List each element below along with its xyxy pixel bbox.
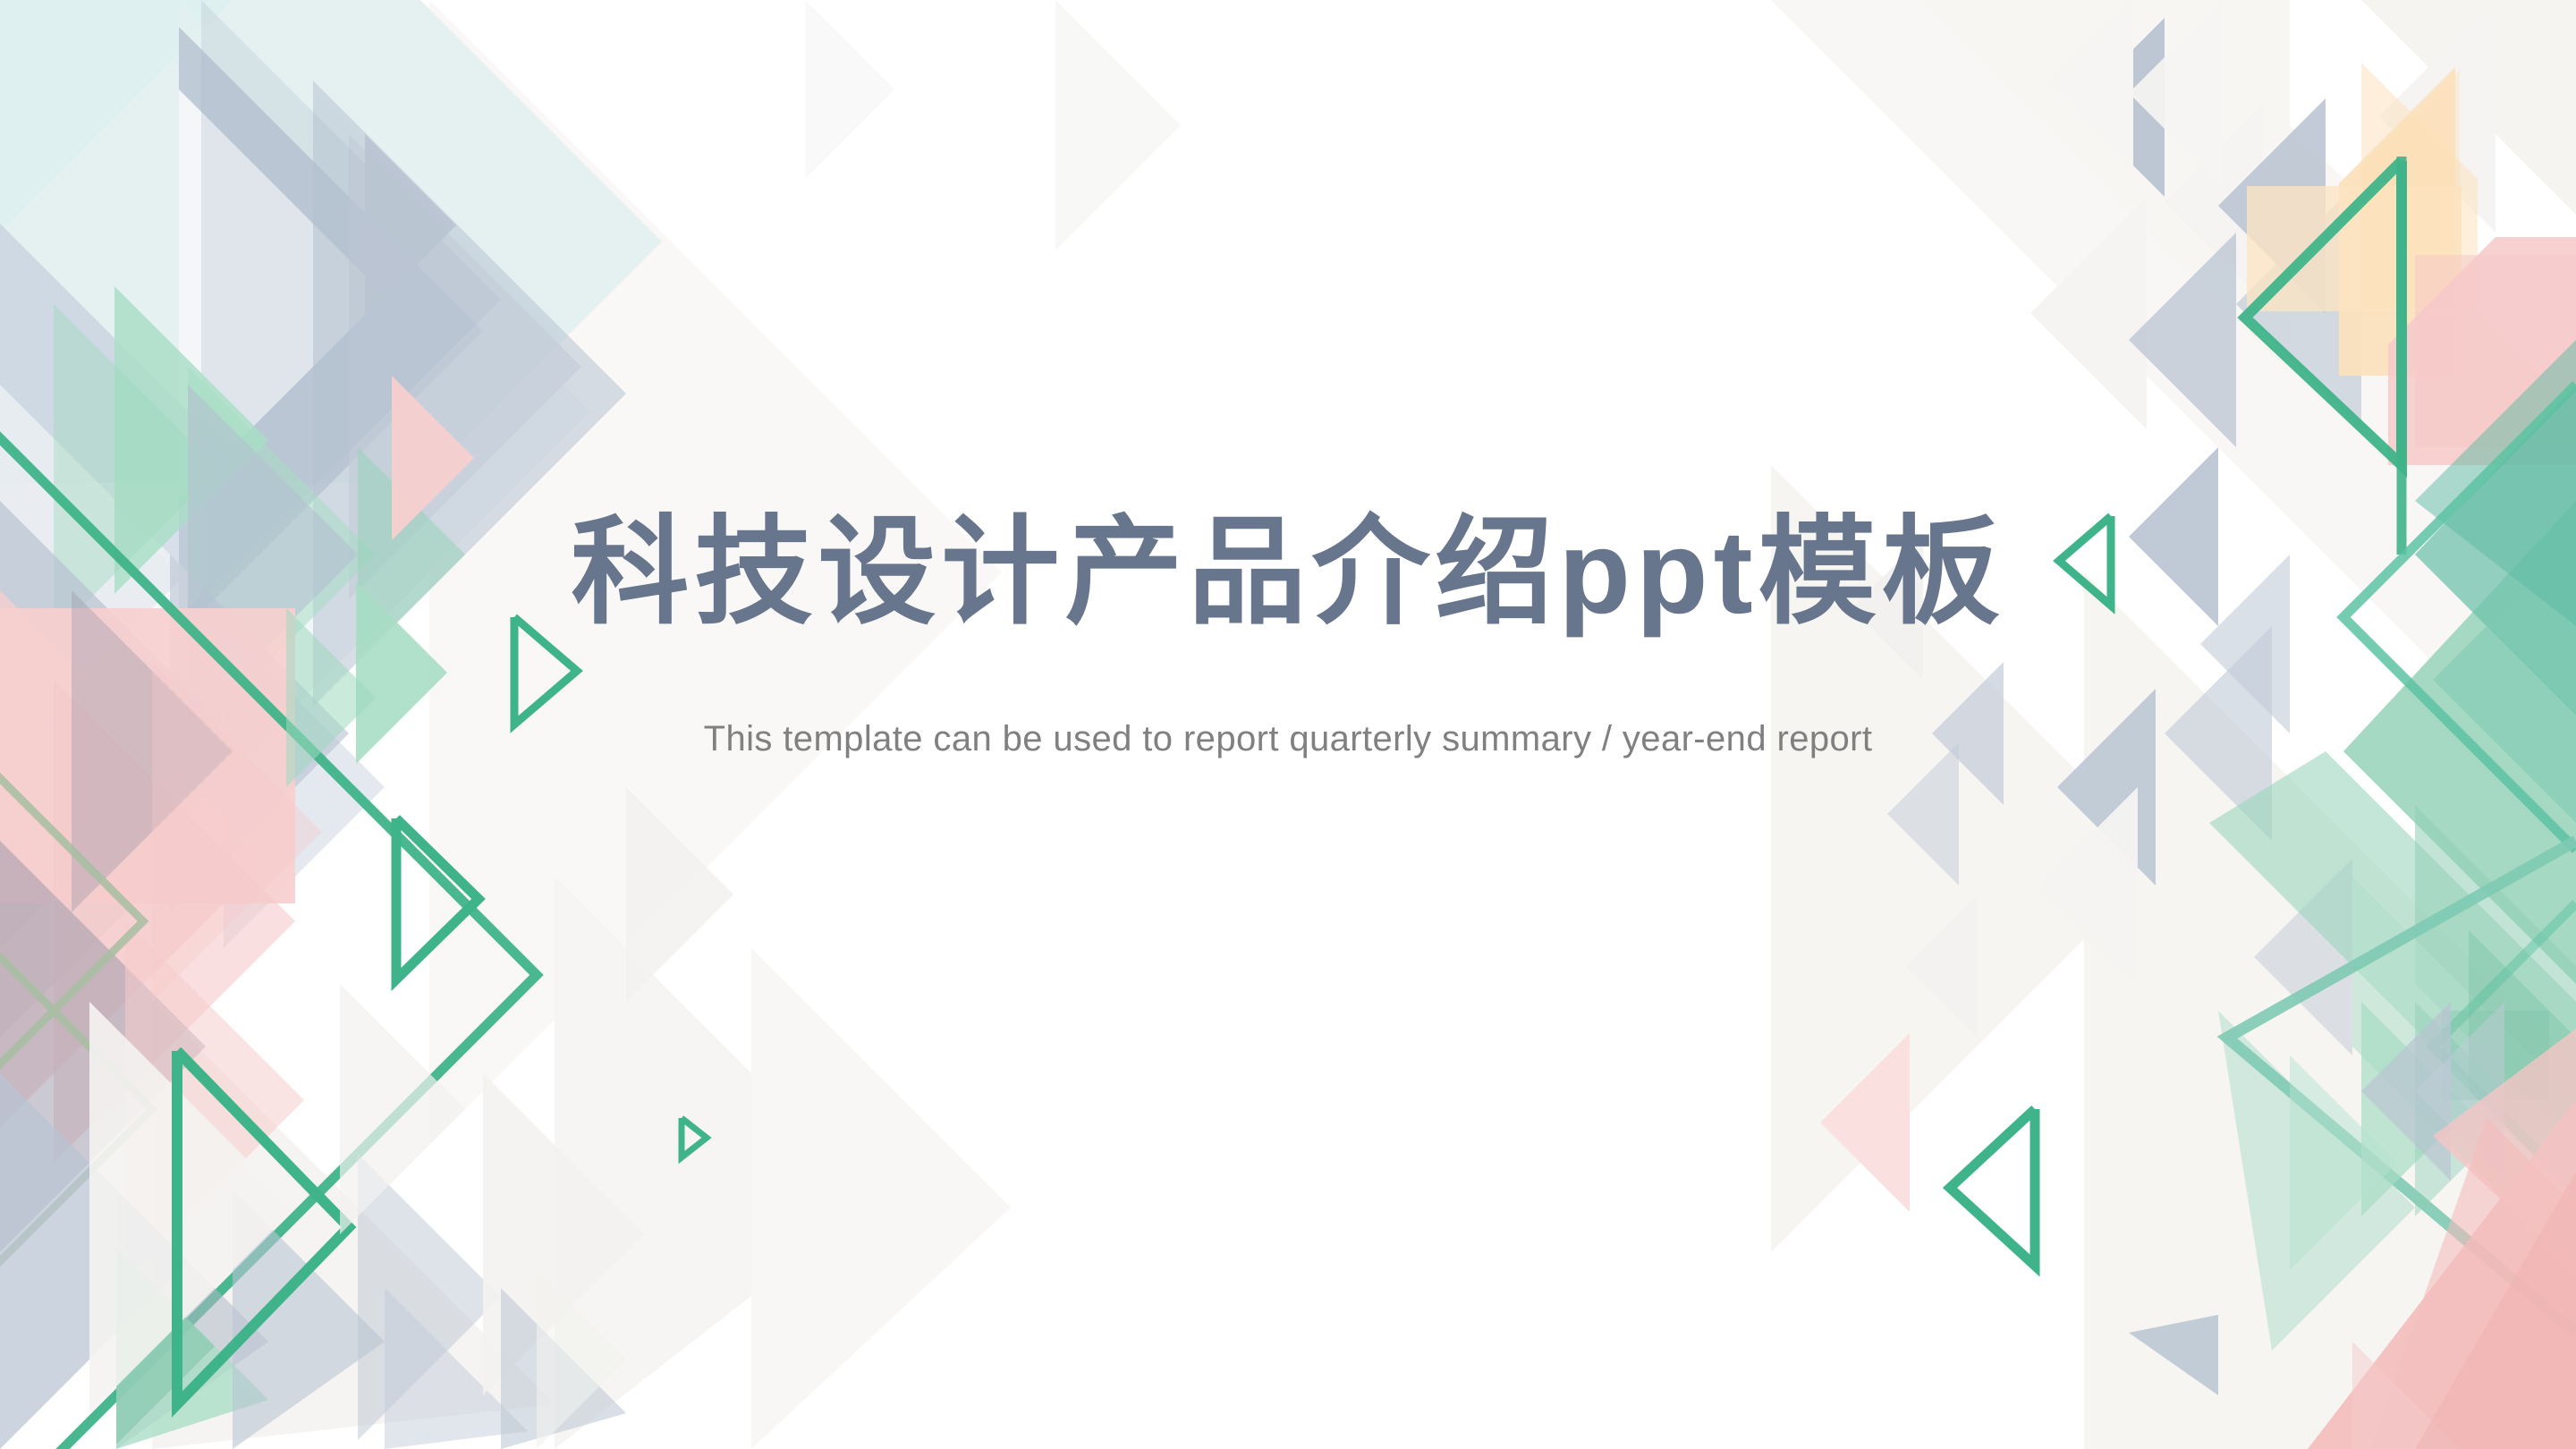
teal-outline-triangle-bottom-right: [1950, 1109, 2035, 1266]
title-slide: 科技设计产品介绍ppt模板 This template can be used …: [0, 0, 2576, 1449]
decorative-background: [0, 0, 2576, 1449]
